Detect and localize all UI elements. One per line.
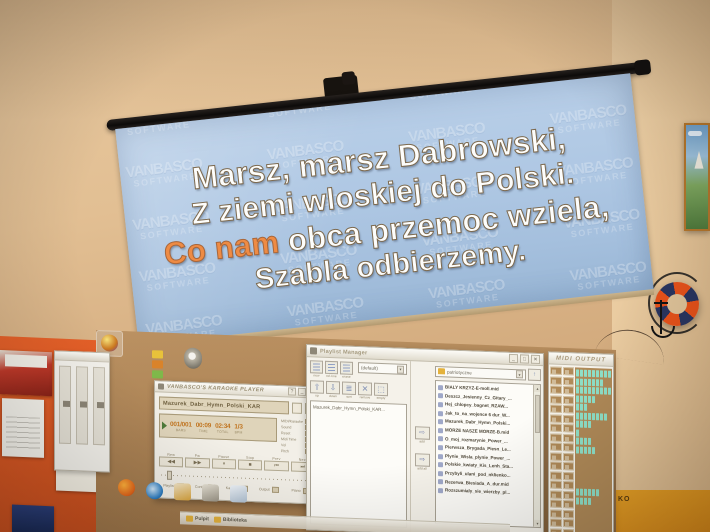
playlist-listbox[interactable]: Mazurek_Dabr_Hymn_Polski_KAR... <box>310 400 407 528</box>
lcd-time-value: 00:09 <box>196 421 211 429</box>
midi-channel-column[interactable] <box>563 367 575 532</box>
midi-meter-segment <box>580 438 583 445</box>
directory-row: patriotyczne ▾ ↑ <box>435 365 541 381</box>
rewind-icon[interactable]: ◀◀ <box>159 456 183 467</box>
midi-meter-segment <box>576 403 579 410</box>
midi-channel-cell[interactable] <box>563 500 575 508</box>
midi-meter-segment <box>588 378 591 385</box>
add-all-label: add all <box>415 466 430 471</box>
move-down-label: down <box>326 394 340 399</box>
midi-meter-segment <box>588 412 591 419</box>
midi-output-body <box>549 364 613 532</box>
side-control-label: MIDI/Karaoke <box>281 419 303 424</box>
midi-channel-cell[interactable] <box>550 509 562 517</box>
preset-combo[interactable]: (default) ▾ <box>358 362 407 375</box>
powerpoint-icon[interactable] <box>174 483 191 501</box>
transport-pause[interactable]: Pause ⏸ <box>212 454 236 469</box>
midi-channel-cell[interactable] <box>550 404 562 412</box>
refline-label: ref-line <box>325 374 338 378</box>
midi-meter-segment <box>596 370 599 377</box>
transport-rew[interactable]: Rew ◀◀ <box>159 452 183 467</box>
arrow-up-icon: ⇧ <box>310 380 324 394</box>
add-icon: ⇨ <box>415 426 430 440</box>
midi-channel-cell[interactable] <box>563 481 575 489</box>
midi-meter-segment <box>584 387 587 394</box>
midi-meter-segment <box>576 488 579 495</box>
orange-board-corner: KO <box>612 490 710 532</box>
parent-folder-button[interactable]: ↑ <box>528 369 541 381</box>
file-listbox[interactable]: BIALY KRZYZ-E-moll.mid Deszcz_Jesienny_C… <box>435 380 541 528</box>
minimize-button[interactable]: _ <box>509 354 518 363</box>
empty-icon: ⬚ <box>374 383 388 397</box>
midi-meter-row <box>576 386 611 394</box>
midi-meter-segment <box>592 447 595 454</box>
player-app-icon <box>158 383 164 389</box>
sort-label: sort <box>342 394 356 399</box>
midi-meter-segment <box>588 421 591 428</box>
list-item[interactable]: Mazurek_Dabr_Hymn_Polski_KAR... <box>313 403 404 414</box>
midi-channel-cell[interactable] <box>550 414 562 422</box>
play-indicator-icon <box>162 422 167 430</box>
previous-icon[interactable]: ⏮ <box>264 460 288 471</box>
playlist-add-column: ⇨ add ⇒ add all <box>411 361 433 532</box>
midi-file-icon <box>438 454 443 459</box>
midi-channel-cell[interactable] <box>550 442 562 450</box>
lcd-time-label: TIME <box>196 428 211 433</box>
transport-prev[interactable]: Prev ⏮ <box>264 456 288 471</box>
sailboat-shape <box>694 151 704 173</box>
folder-icon <box>438 368 445 374</box>
scroll-up-icon[interactable]: ▴ <box>534 385 541 392</box>
midi-meter-segment <box>576 429 579 436</box>
side-control-label: Sound <box>281 425 303 430</box>
midi-file-icon <box>438 402 443 407</box>
midi-channel-cell[interactable] <box>563 433 575 441</box>
midi-meter-segment <box>600 379 603 386</box>
chevron-down-icon[interactable]: ▾ <box>516 370 523 378</box>
midi-meter-segment <box>604 388 607 395</box>
playlist-file-browser: patriotyczne ▾ ↑ BIALY KRZYZ-E-moll.mid … <box>433 362 543 532</box>
midi-meter-segment <box>576 369 579 376</box>
move-up-button[interactable]: ⇧ up <box>310 380 324 398</box>
midi-channel-cell[interactable] <box>550 376 562 384</box>
midi-meter-segment <box>596 379 599 386</box>
midi-meter-segment <box>576 420 579 427</box>
midi-channel-cell[interactable] <box>563 443 575 451</box>
file-list-scrollbar[interactable]: ▴ ▾ <box>533 385 540 527</box>
chevron-down-icon[interactable]: ▾ <box>397 365 404 373</box>
player-transport-controls: Rew ◀◀ Fw ▶▶ Pause ⏸ Stop ■ <box>159 452 315 472</box>
add-all-button[interactable]: ⇒ add all <box>415 453 430 471</box>
midi-meter-segment <box>580 421 583 428</box>
midi-meter-segment <box>588 387 591 394</box>
position-slider-knob[interactable] <box>167 471 172 480</box>
midi-meter-segment <box>576 497 579 504</box>
midi-meter-row <box>576 429 611 437</box>
midi-meter-segment <box>604 371 607 378</box>
midi-meter-segment <box>600 370 603 377</box>
midi-meter-segment <box>584 438 587 445</box>
player-lcd-display: 001/001 BARS 00:09 TIME 02:34 TOTAL <box>159 413 277 442</box>
led-yellow-icon <box>152 350 163 358</box>
midi-file-icon <box>438 385 443 390</box>
midi-meter-segment <box>596 413 599 420</box>
midi-meter-row <box>576 403 611 411</box>
pause-icon[interactable]: ⏸ <box>212 458 236 469</box>
midi-meter-segment <box>580 404 583 411</box>
help-button[interactable]: ? <box>288 387 296 395</box>
midi-file-icon <box>438 479 443 484</box>
lcd-total-label: TOTAL <box>215 429 230 434</box>
midi-meter-segment <box>584 421 587 428</box>
playlist-order-toolbar: ⇧ up ⇩ down ≣ sort ✕ rem <box>310 380 407 401</box>
playlist-body: new ref-line erase (default) ▾ <box>307 357 543 532</box>
screen-bar-cap <box>634 59 652 76</box>
midi-meter-segment <box>588 395 591 402</box>
taskbar-biblioteka-label: Biblioteka <box>223 517 247 524</box>
midi-meter-segment <box>580 497 583 504</box>
midi-meter-segment <box>588 489 591 496</box>
new-playlist-label: new <box>310 373 323 377</box>
lcd-tempo-label: BPM <box>234 430 242 434</box>
sailboat-painting <box>686 125 708 229</box>
midi-meter-row <box>576 463 611 471</box>
remove-button[interactable]: ✕ remove <box>358 382 372 400</box>
midi-meter-segment <box>584 412 587 419</box>
player-file-row: Mazurek_Dabr_Hymn_Polski_KAR <box>159 396 315 415</box>
midi-meter-segment <box>580 489 583 496</box>
midi-meter-segment <box>576 412 579 419</box>
add-button[interactable]: ⇨ add <box>415 426 430 444</box>
file-list: BIALY KRZYZ-E-moll.mid Deszcz_Jesienny_C… <box>436 381 533 527</box>
scrollbar-thumb[interactable] <box>535 395 540 433</box>
midi-meter-segment <box>588 446 591 453</box>
forward-icon[interactable]: ▶▶ <box>185 457 209 468</box>
playlist-window-buttons[interactable]: _ □ ✕ <box>509 354 540 364</box>
transport-fw[interactable]: Fw ▶▶ <box>185 453 209 468</box>
midi-meter-segment <box>584 489 587 496</box>
midi-file-icon <box>438 411 443 416</box>
midi-meter-segment <box>592 489 595 496</box>
lcd-tempo: 1/3 BPM <box>234 423 242 434</box>
toggle-output-label: Output <box>259 487 270 491</box>
midi-meter-segment <box>576 437 579 444</box>
mixer-side-window[interactable] <box>54 350 110 472</box>
midi-channel-cell[interactable] <box>550 395 562 403</box>
midi-file-icon <box>438 428 443 433</box>
midi-meter-segment <box>580 446 583 453</box>
midi-meter-segment <box>592 387 595 394</box>
player-lcd-row: 001/001 BARS 00:09 TIME 02:34 TOTAL <box>159 413 315 454</box>
midi-meter-segment <box>600 387 603 394</box>
anchor-decor <box>660 300 662 334</box>
desktop-icon <box>186 515 193 521</box>
side-small-label: Vol <box>281 443 303 448</box>
midi-file-icon <box>438 488 443 493</box>
midi-meter-row <box>576 437 611 445</box>
midi-file-icon <box>438 436 443 441</box>
remove-label: remove <box>358 395 372 400</box>
screen-mount-knob <box>341 71 355 85</box>
sailboat-painting-frame <box>684 123 710 231</box>
sort-icon: ≣ <box>342 381 356 395</box>
lcd-total-value: 02:34 <box>215 422 230 430</box>
midi-meter-segment <box>608 371 611 378</box>
midi-meter-segment <box>576 395 579 402</box>
midi-meter-segment <box>580 412 583 419</box>
midi-meter-segment <box>596 489 599 496</box>
midi-meter-segment <box>576 446 579 453</box>
transport-stop[interactable]: Stop ■ <box>238 455 262 470</box>
lcd-bars: 001/001 BARS <box>170 420 192 432</box>
midi-meter-row <box>576 480 611 488</box>
playlist-file-toolbar: new ref-line erase (default) ▾ <box>310 360 407 381</box>
midi-channel-cell[interactable] <box>550 528 562 532</box>
letter-document <box>2 398 44 458</box>
lcd-bars-value: 001/001 <box>170 420 192 428</box>
midi-meter-segment <box>580 395 583 402</box>
midi-meter-row <box>576 497 611 505</box>
move-up-label: up <box>310 393 324 398</box>
midi-meter-segment <box>588 497 591 504</box>
erase-icon <box>340 361 353 374</box>
open-file-icon[interactable] <box>292 403 302 414</box>
midi-channel-cell[interactable] <box>550 385 562 393</box>
current-file-display: Mazurek_Dabr_Hymn_Polski_KAR <box>159 396 289 414</box>
midi-meter-segment <box>580 378 583 385</box>
midi-meter-segment <box>588 370 591 377</box>
folder-icon <box>214 517 221 523</box>
midi-channel-cell[interactable] <box>550 366 562 374</box>
midi-channel-cell[interactable] <box>563 528 575 532</box>
erase-label: erase <box>340 374 353 378</box>
side-control-label: Reset <box>281 431 303 436</box>
midi-channel-cell[interactable] <box>563 424 575 432</box>
directory-combo[interactable]: patriotyczne ▾ <box>435 366 526 380</box>
midi-meter-segment <box>584 497 587 504</box>
toggle-playlist-label: Playlist <box>163 484 174 488</box>
midi-meter-segment <box>592 370 595 377</box>
refline-icon <box>325 361 338 374</box>
midi-meter-segment <box>584 404 587 411</box>
midi-channel-cell[interactable] <box>563 490 575 498</box>
midi-meter-segment <box>600 413 603 420</box>
file-name: Rozszumialy_sie_wierzby_pl... <box>445 487 510 498</box>
midi-channel-cell[interactable] <box>563 471 575 479</box>
midi-channel-cell[interactable] <box>563 395 575 403</box>
midi-meter-row <box>576 420 611 428</box>
move-down-button[interactable]: ⇩ down <box>326 381 340 399</box>
taskbar-item-pulpit[interactable]: Pulpit <box>186 515 209 522</box>
lcd-tempo-value: 1/3 <box>234 423 242 430</box>
preset-combo-value: (default) <box>361 365 378 371</box>
computer-desktop-area: VANBASCO'S KARAOKE PLAYER ? _ X Mazurek_… <box>96 330 616 532</box>
internet-explorer-icon[interactable] <box>146 482 163 500</box>
midi-channel-cell[interactable] <box>563 519 575 527</box>
midi-file-icon <box>438 419 443 424</box>
mixer-slider[interactable] <box>76 366 88 444</box>
mixer-slider[interactable] <box>59 366 71 444</box>
lcd-total: 02:34 TOTAL <box>215 422 230 434</box>
midi-channel-cell[interactable] <box>550 452 562 460</box>
midi-channel-cell[interactable] <box>563 367 575 375</box>
directory-value: patriotyczne <box>447 369 472 375</box>
midi-meter-segment <box>576 378 579 385</box>
midi-channel-cell[interactable] <box>563 452 575 460</box>
midi-output-window[interactable]: MIDI OUTPUT <box>548 351 614 532</box>
midi-file-icon <box>438 445 443 450</box>
led-orange-icon <box>152 360 163 368</box>
remove-icon: ✕ <box>358 382 372 396</box>
midi-channel-cell[interactable] <box>550 499 562 507</box>
midi-channel-cell[interactable] <box>563 509 575 517</box>
midi-channel-cell[interactable] <box>550 480 562 488</box>
midi-meter-segment <box>584 395 587 402</box>
playlist-app-icon <box>310 347 317 354</box>
midi-meter-segment <box>584 446 587 453</box>
midi-meter-row <box>576 369 611 377</box>
cd-disc-icon <box>184 347 202 369</box>
erase-button[interactable]: erase <box>340 361 353 378</box>
key-icon[interactable] <box>202 484 219 502</box>
midi-file-icon <box>438 471 443 476</box>
empty-label: empty <box>374 396 388 401</box>
playlist-left-pane: new ref-line erase (default) ▾ <box>307 357 411 532</box>
midi-file-icon <box>438 394 443 399</box>
minimize-button[interactable]: _ <box>298 388 306 396</box>
midi-meter-segment <box>576 386 579 393</box>
toggle-piano-label: Piano <box>291 489 300 493</box>
midi-meter-row <box>576 412 611 420</box>
midi-meter-segment <box>584 370 587 377</box>
midi-meter-segment <box>588 438 591 445</box>
midi-channel-cell[interactable] <box>550 461 562 469</box>
midi-channel-cell[interactable] <box>563 405 575 413</box>
cloud-shape <box>688 131 702 136</box>
mixer-slider[interactable] <box>93 367 105 445</box>
midi-meter-row <box>576 488 611 496</box>
midi-channel-cell[interactable] <box>550 471 562 479</box>
status-led-stack <box>152 350 166 381</box>
midi-meter-row <box>576 395 611 403</box>
blue-poster <box>12 505 54 532</box>
midi-file-icon <box>438 462 443 467</box>
maximize-button[interactable]: □ <box>520 354 529 363</box>
add-all-icon: ⇒ <box>415 453 430 467</box>
toggle-output-box[interactable] <box>272 487 279 493</box>
midi-channel-cell[interactable] <box>550 423 562 431</box>
new-playlist-button[interactable]: new <box>310 360 323 377</box>
classroom-photo-scene: KO VANBASCOSOFTWARE VANBASCOSOFTWARE VAN… <box>0 0 710 532</box>
midi-channel-cell[interactable] <box>563 376 575 384</box>
led-green-icon <box>152 370 163 378</box>
board-corner-text: KO <box>618 496 631 503</box>
side-small-label: Pitch <box>281 449 303 454</box>
midi-meter-row <box>576 454 611 462</box>
new-playlist-icon <box>310 360 323 373</box>
toggle-output[interactable]: Output <box>254 486 283 493</box>
arrow-down-icon: ⇩ <box>326 381 340 395</box>
midi-meter-segment <box>596 387 599 394</box>
midi-meter-segment <box>592 379 595 386</box>
position-slider-track <box>161 474 313 481</box>
midi-meter-segment <box>580 387 583 394</box>
midi-meter-segment <box>584 378 587 385</box>
midi-channel-cell[interactable] <box>550 433 562 441</box>
midi-meter-segment <box>608 388 611 395</box>
stop-icon[interactable]: ■ <box>238 459 262 470</box>
taskbar-item-biblioteka[interactable]: Biblioteka <box>214 517 247 524</box>
playlist-manager-window[interactable]: Playlist Manager _ □ ✕ new <box>306 344 544 532</box>
close-button[interactable]: ✕ <box>531 355 540 364</box>
lcd-time: 00:09 TIME <box>196 421 211 433</box>
midi-meter-row <box>576 378 611 386</box>
lcd-values: 001/001 BARS 00:09 TIME 02:34 TOTAL <box>170 420 274 435</box>
midi-channel-cell[interactable] <box>563 462 575 470</box>
firefox-icon[interactable] <box>118 479 135 497</box>
mixer-side-body <box>55 360 109 450</box>
midi-channel-cell[interactable] <box>563 414 575 422</box>
midi-channel-column[interactable] <box>550 366 562 532</box>
midi-meter-segment <box>592 396 595 403</box>
taskbar-pulpit-label: Pulpit <box>195 516 209 523</box>
midi-channel-cell[interactable] <box>550 490 562 498</box>
refline-button[interactable]: ref-line <box>325 361 338 378</box>
side-control-label: Midi Time <box>281 437 303 442</box>
midi-meter-segment <box>604 413 607 420</box>
midi-channel-cell[interactable] <box>563 386 575 394</box>
sort-button[interactable]: ≣ sort <box>342 381 356 399</box>
add-label: add <box>415 439 430 444</box>
midi-meter-row <box>576 471 611 479</box>
scroll-down-icon[interactable]: ▾ <box>534 520 541 527</box>
group-photo <box>0 350 52 396</box>
midi-meter-row <box>576 446 611 454</box>
midi-level-meters <box>575 367 612 532</box>
document-icon[interactable] <box>230 485 247 503</box>
midi-meter-segment <box>580 370 583 377</box>
empty-button[interactable]: ⬚ empty <box>374 383 388 401</box>
midi-channel-cell[interactable] <box>550 518 562 526</box>
midi-meter-segment <box>592 413 595 420</box>
